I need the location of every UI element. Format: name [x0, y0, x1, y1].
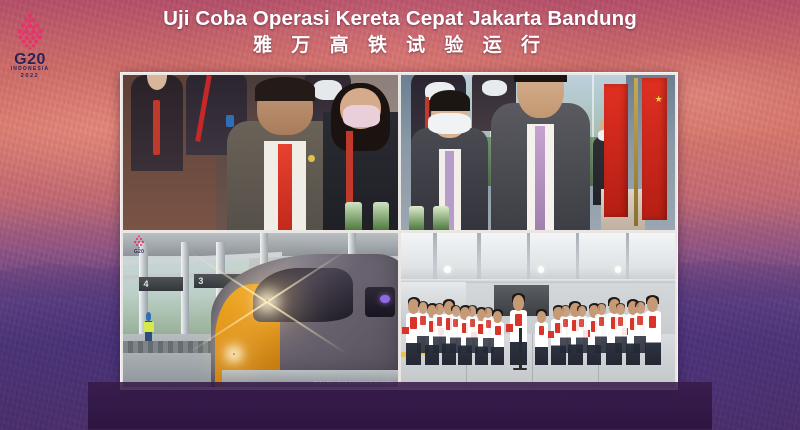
tile4-station-canopy — [401, 233, 676, 282]
tile4-canopy-rib-2 — [477, 233, 480, 282]
tile4-crowd-person — [466, 316, 478, 353]
g20-batik-teardrop-icon — [13, 12, 47, 52]
g20-logo-year: 2022 — [3, 73, 57, 80]
tile4-crowd-person — [417, 313, 429, 353]
tile3-lens-flare-secondary — [233, 353, 235, 355]
tile1-woman-face-mask — [343, 105, 380, 127]
broadcast-stage: G20 INDONESIA 2022 Uji Coba Operasi Kere… — [0, 0, 800, 430]
tile1-bg1-head — [147, 75, 167, 90]
tile4-ceiling-lamp-2 — [538, 266, 545, 272]
tile1-jokowi-red-tie — [278, 144, 292, 230]
tile4-crowd-person — [535, 322, 548, 365]
tile2-flag-star-icon: ★ — [655, 94, 663, 105]
tile3-watermark-label: G20 — [126, 249, 152, 255]
tile4-ceiling-lamp-1 — [444, 266, 451, 272]
tile2-xi-hair — [514, 75, 567, 82]
video-tile-jokowi-delegation[interactable] — [123, 75, 398, 230]
tile1-bg2-badge — [226, 115, 234, 127]
tile2-aide-hair — [430, 90, 470, 111]
video-tile-platform-crowd[interactable] — [401, 233, 676, 388]
title-main: Uji Coba Operasi Kereta Cepat Jakarta Ba… — [120, 6, 680, 32]
g20-logo: G20 INDONESIA 2022 — [3, 12, 57, 78]
tile3-worker-head — [146, 312, 152, 320]
tile1-jokowi-lapel-pin — [308, 155, 315, 163]
tile4-canopy-rib-5 — [626, 233, 629, 282]
tile3-g20-watermark: G20 — [126, 235, 152, 261]
tile2-bg2-face-mask — [482, 80, 507, 96]
title-secondary-chinese: 雅 万 高 铁 试 验 运 行 — [120, 34, 680, 58]
tile1-water-bottle-2 — [373, 202, 389, 230]
tile1-jokowi-hair — [255, 77, 315, 101]
tile1-background-person-1 — [131, 75, 183, 171]
tile1-bg2-sash — [195, 75, 212, 142]
tile1-water-bottle-1 — [345, 202, 361, 230]
tile4-ceiling-lamp-3 — [615, 266, 622, 272]
tile4-crowd-person — [483, 317, 494, 353]
g20-logo-primary: G20 — [3, 53, 57, 66]
video-grid: ★ — [120, 72, 678, 390]
tile4-crowd-person — [433, 314, 445, 353]
tile2-aide-face-mask — [428, 113, 471, 134]
tile2-president-xi — [491, 103, 590, 230]
tile4-canopy-rib-1 — [433, 233, 436, 282]
tile3-watermark-teardrop-icon — [133, 235, 145, 249]
tile4-floor-joint-2 — [532, 334, 533, 387]
tile2-flag-pole — [634, 78, 637, 226]
tile2-xi-tie — [535, 126, 546, 229]
tile2-china-flag-1 — [604, 84, 629, 217]
tile4-crowd-person — [615, 314, 627, 353]
tile3-platform-sign-4: 4 — [139, 277, 183, 291]
tile4-canopy-rib-3 — [527, 233, 530, 282]
tile3-lens-flare-star — [266, 300, 269, 303]
tile4-crowd-person — [450, 316, 462, 353]
tile3-photo-credit: Foto: Biro Pers Sekretariat Presiden — [314, 380, 393, 385]
tile4-crowd-person — [595, 314, 607, 353]
tile4-canopy-rib-4 — [576, 233, 579, 282]
tile4-crowd-person — [576, 316, 588, 353]
tile4-crowd-person — [634, 313, 647, 353]
tile4-crowd-person — [645, 311, 661, 365]
video-tile-high-speed-train[interactable]: 4 3 — [123, 233, 398, 388]
tile3-train-side-window — [365, 287, 396, 317]
tile2-water-bottle-1 — [409, 206, 424, 229]
tile4-crowd-person — [560, 316, 572, 353]
tile2-water-bottle-2 — [433, 206, 448, 229]
g20-logo-country: INDONESIA — [3, 66, 57, 73]
tile3-train-marker-lamp — [380, 295, 390, 303]
tile3-worker-hi-vis-vest — [144, 322, 154, 332]
tile4-microphone-stand — [519, 328, 522, 368]
video-tile-xi-delegation[interactable]: ★ — [401, 75, 676, 230]
tile1-bg1-tie — [153, 100, 160, 156]
title-block: Uji Coba Operasi Kereta Cepat Jakarta Ba… — [120, 6, 680, 58]
tile3-station-worker — [145, 321, 152, 341]
